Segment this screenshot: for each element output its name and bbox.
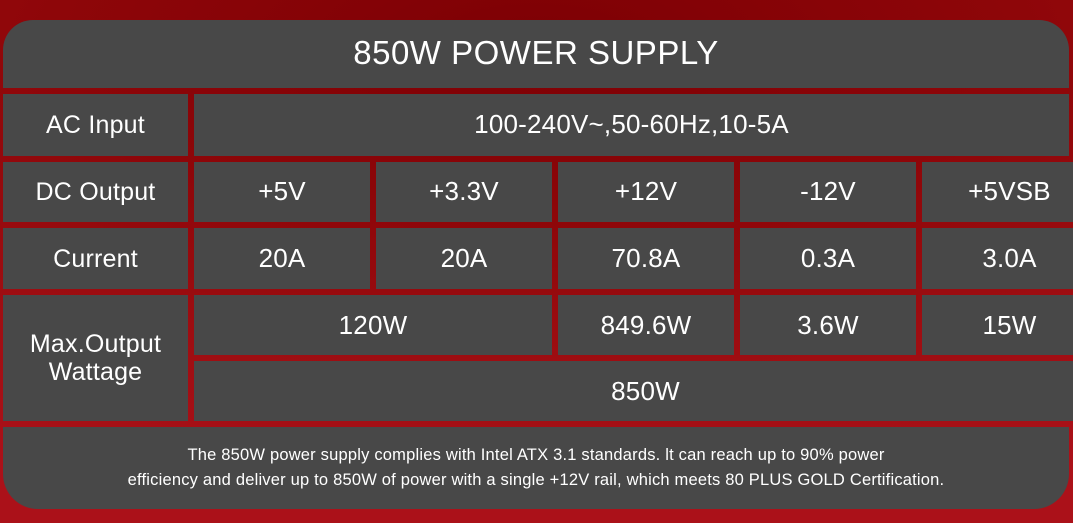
dc-output-row: DC Output +5V +3.3V +12V -12V +5VSB <box>3 162 1069 223</box>
max-output-wattage-label: Max.Output Wattage <box>3 295 188 421</box>
ac-input-row: AC Input 100-240V~,50-60Hz,10-5A <box>3 94 1069 156</box>
title-row: 850W POWER SUPPLY <box>3 20 1069 88</box>
wattage-per-rail-row: 120W 849.6W 3.6W 15W <box>194 295 1073 355</box>
wattage-neg12v: 3.6W <box>740 295 916 355</box>
dc-output-rail-5v: +5V <box>194 162 370 223</box>
wattage-total: 850W <box>194 361 1073 421</box>
current-5v: 20A <box>194 228 370 289</box>
footer-line-1: The 850W power supply complies with Inte… <box>187 443 884 469</box>
dc-output-rail-12v: +12V <box>558 162 734 223</box>
footer-line-2: efficiency and deliver up to 850W of pow… <box>128 468 945 494</box>
footer-row: The 850W power supply complies with Inte… <box>3 427 1069 509</box>
current-row: Current 20A 20A 70.8A 0.3A 3.0A <box>3 228 1069 289</box>
dc-output-rail-5vsb: +5VSB <box>922 162 1073 223</box>
ac-input-label: AC Input <box>3 94 188 156</box>
wattage-5vsb: 15W <box>922 295 1073 355</box>
wattage-12v: 849.6W <box>558 295 734 355</box>
current-label: Current <box>3 228 188 289</box>
wattage-5v-3v3-combined: 120W <box>194 295 552 355</box>
dc-output-rail-3v3: +3.3V <box>376 162 552 223</box>
page-title: 850W POWER SUPPLY <box>3 20 1069 88</box>
current-5vsb: 3.0A <box>922 228 1073 289</box>
max-output-wattage-row: Max.Output Wattage 120W 849.6W 3.6W 15W … <box>3 295 1069 421</box>
current-12v: 70.8A <box>558 228 734 289</box>
current-3v3: 20A <box>376 228 552 289</box>
psu-specification-label: 850W POWER SUPPLY AC Input 100-240V~,50-… <box>0 0 1073 523</box>
current-neg12v: 0.3A <box>740 228 916 289</box>
dc-output-rail-neg12v: -12V <box>740 162 916 223</box>
footer-note: The 850W power supply complies with Inte… <box>3 427 1069 509</box>
dc-output-label: DC Output <box>3 162 188 223</box>
ac-input-value: 100-240V~,50-60Hz,10-5A <box>194 94 1069 156</box>
wattage-values-group: 120W 849.6W 3.6W 15W 850W <box>194 295 1073 421</box>
spec-table: 850W POWER SUPPLY AC Input 100-240V~,50-… <box>3 20 1069 509</box>
